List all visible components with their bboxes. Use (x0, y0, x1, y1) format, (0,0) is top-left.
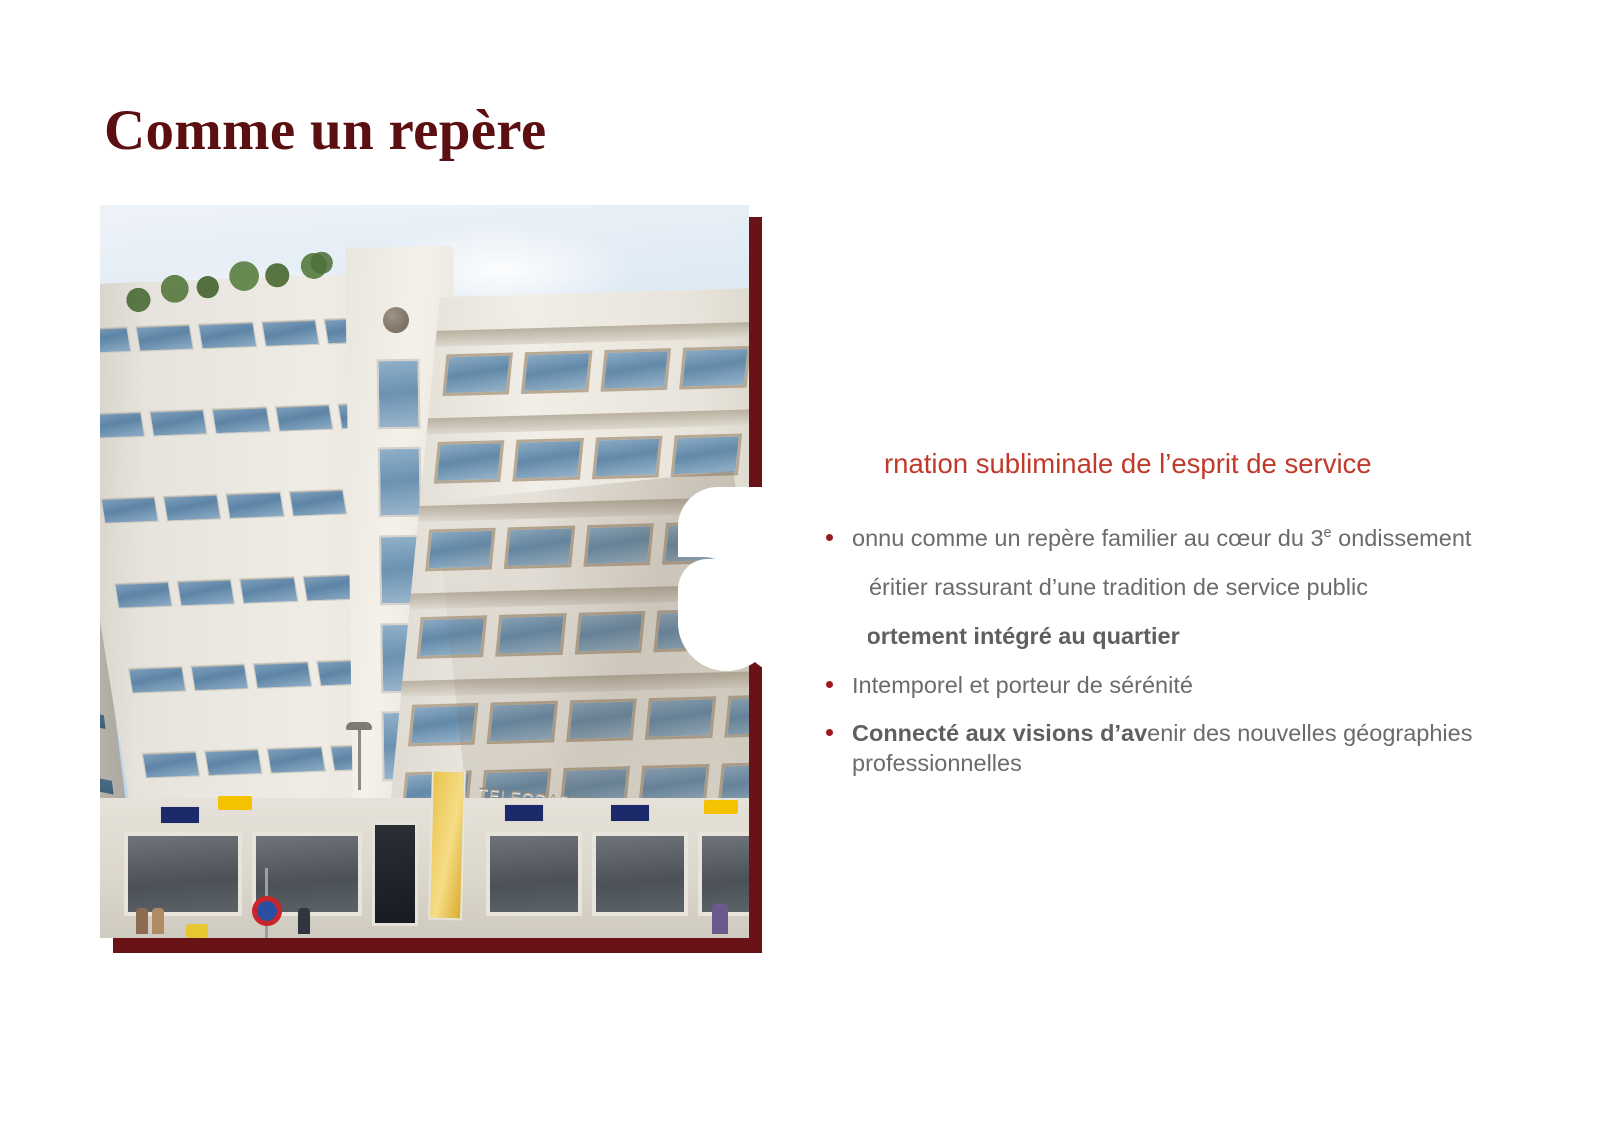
facade-window-row (100, 317, 383, 354)
facade-window-row (442, 344, 749, 396)
shopfront (486, 832, 582, 916)
bullet-dot-icon (826, 632, 833, 639)
facade-window (434, 440, 505, 484)
body-heading: rnation subliminale de l’esprit de servi… (884, 447, 1484, 481)
facade-window (149, 409, 208, 437)
facade-window-row (100, 765, 115, 796)
pedestrian (136, 908, 148, 934)
facade-medallion (382, 307, 408, 333)
facade-window (733, 606, 749, 650)
facade-cornice (409, 582, 749, 609)
street-lamp (358, 728, 361, 790)
pedestrian (152, 908, 164, 934)
bullet-dot-icon (826, 729, 833, 736)
facade-window-row (434, 431, 749, 483)
facade-window-row (417, 606, 749, 658)
text-run: Intemporel et porteur de sérénité (852, 672, 1193, 698)
facade-window (135, 324, 194, 352)
facade-cornice (435, 320, 749, 347)
pedestrian (298, 908, 310, 934)
entrance-door (372, 822, 418, 926)
facade-window (212, 406, 271, 434)
facade-window (114, 581, 173, 609)
shop-sign-blue (610, 804, 650, 822)
facade-window (724, 694, 749, 738)
la-poste-logo-sign (218, 796, 252, 810)
yellow-kiosk (428, 770, 466, 921)
page-title: Comme un repère (104, 101, 546, 161)
facade-window (671, 433, 742, 477)
text-run: Fortement intégré au quartier (852, 623, 1180, 649)
photo-block[interactable]: TELEGRAPHE POSTE TELEPHONE (100, 205, 763, 953)
facade-cornice (401, 670, 749, 697)
text-run: ondissement (1332, 525, 1472, 551)
facade-window (645, 696, 716, 740)
facade-window (442, 353, 513, 397)
facade-window (239, 576, 298, 604)
list-item: onnu comme un repère familier au cœur du… (824, 524, 1484, 554)
facade-window (654, 609, 725, 653)
facade-window (487, 701, 558, 745)
facade-window (100, 411, 145, 439)
facade-window (679, 346, 749, 390)
la-poste-logo-sign (704, 800, 738, 814)
list-item-label: Héritier rassurant d’une tradition de se… (852, 574, 1368, 600)
facade-window (261, 319, 320, 347)
facade-window (408, 703, 479, 747)
list-item-label: Connecté aux visions d’avenir des nouvel… (852, 720, 1472, 776)
list-item: Fortement intégré au quartier (824, 622, 1484, 652)
facade-window (521, 350, 592, 394)
facade-window-row (425, 519, 749, 571)
facade-window (504, 525, 575, 569)
facade-window (741, 519, 749, 563)
facade-window (163, 494, 222, 522)
facade-window (417, 615, 488, 659)
facade-window (267, 746, 326, 774)
list-item-label: onnu comme un repère familier au cœur du… (852, 524, 1471, 554)
list-item-label: Intemporel et porteur de sérénité (852, 672, 1193, 698)
text-run: onnu comme un repère familier au cœur du… (852, 525, 1324, 551)
no-parking-sign-icon (252, 896, 282, 926)
shop-sign-blue (504, 804, 544, 822)
list-item: Connecté aux visions d’avenir des nouvel… (824, 719, 1484, 779)
shopfront (124, 832, 242, 916)
text-run: e (1324, 525, 1332, 541)
bullet-list: onnu comme un repère familier au cœur du… (824, 524, 1484, 798)
facade-window (177, 579, 236, 607)
facade-window (100, 496, 159, 524)
facade-window (275, 404, 334, 432)
facade-window (662, 521, 733, 565)
facade-window (600, 348, 671, 392)
facade-window (425, 528, 496, 572)
facade-cornice (427, 407, 749, 434)
facade-window (377, 359, 421, 430)
list-item: Intemporel et porteur de sérénité (824, 671, 1484, 701)
shop-sign-blue (160, 806, 200, 824)
facade-window (226, 491, 285, 519)
facade-window (583, 523, 654, 567)
building-photo: TELEGRAPHE POSTE TELEPHONE (100, 205, 749, 938)
text-run: Héritier rassurant d’une tradition de se… (852, 574, 1368, 600)
facade-window (141, 751, 200, 779)
text-run: Connecté aux visions d’av (852, 720, 1147, 746)
facade-window (378, 447, 422, 518)
facade-window (198, 322, 257, 350)
facade-window (100, 326, 132, 354)
facade-cornice (418, 495, 749, 522)
facade-window (128, 666, 187, 694)
pedestrian (712, 904, 728, 934)
facade-window (592, 436, 663, 480)
bullet-dot-icon (826, 534, 833, 541)
facade-window-row (408, 694, 749, 746)
facade-window (204, 748, 263, 776)
street-level (100, 798, 749, 938)
pedestrian (186, 924, 208, 938)
shopfront (592, 832, 688, 916)
facade-window (288, 489, 347, 517)
list-item-label: Fortement intégré au quartier (852, 623, 1180, 649)
bullet-dot-icon (826, 681, 833, 688)
facade-window (496, 613, 567, 657)
facade-window (575, 611, 646, 655)
list-item: Héritier rassurant d’une tradition de se… (824, 573, 1484, 603)
facade-window (513, 438, 584, 482)
slide-canvas: Comme un repère (0, 0, 1600, 1131)
facade-window (566, 698, 637, 742)
facade-window-row (100, 699, 107, 730)
facade-window (190, 663, 249, 691)
facade-window (253, 661, 312, 689)
